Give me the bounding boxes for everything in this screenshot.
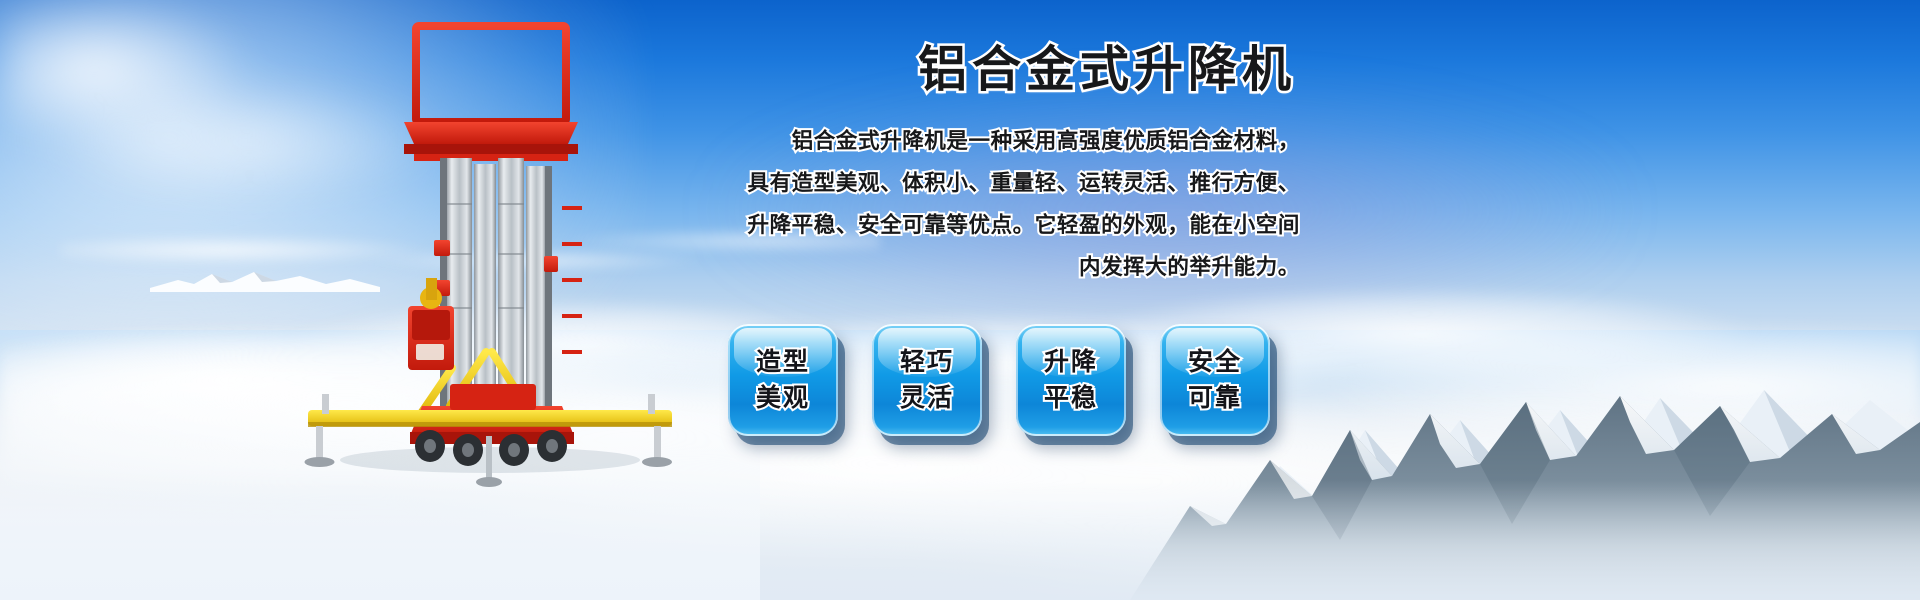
page-title: 铝合金式升降机 [700,44,1300,98]
feature-badge-line1: 安全 [1188,344,1242,380]
feature-badge-design-aesthetics[interactable]: 造型 美观 [728,324,838,436]
feature-badge-line2: 可靠 [1188,380,1242,416]
description-line-1: 铝合金式升降机是一种采用高强度优质铝合金材料， [700,120,1300,162]
description-line-2: 具有造型美观、体积小、重量轻、运转灵活、推行方便、 [700,162,1300,204]
feature-badge-line1: 造型 [756,344,810,380]
feature-badge-line1: 升降 [1044,344,1098,380]
feature-badge-smooth-lifting[interactable]: 升降 平稳 [1016,324,1126,436]
feature-badge-line2: 美观 [756,380,810,416]
feature-badge-line2: 平稳 [1044,380,1098,416]
product-image-aluminum-lift [300,8,680,488]
feature-badge-lightweight-flexible[interactable]: 轻巧 灵活 [872,324,982,436]
description-line-4: 内发挥大的举升能力。 [700,246,1300,288]
feature-badge-line1: 轻巧 [900,344,954,380]
hero-banner: 铝合金式升降机 铝合金式升降机是一种采用高强度优质铝合金材料， 具有造型美观、体… [0,0,1920,600]
feature-badge-safe-reliable[interactable]: 安全 可靠 [1160,324,1270,436]
description-line-3: 升降平稳、安全可靠等优点。它轻盈的外观，能在小空间 [700,204,1300,246]
feature-badge-list: 造型 美观 轻巧 灵活 升降 平稳 安全 可靠 [728,324,1270,436]
feature-badge-line2: 灵活 [900,380,954,416]
banner-description: 铝合金式升降机是一种采用高强度优质铝合金材料， 具有造型美观、体积小、重量轻、运… [700,120,1300,288]
banner-copy: 铝合金式升降机 铝合金式升降机是一种采用高强度优质铝合金材料， 具有造型美观、体… [700,44,1300,288]
